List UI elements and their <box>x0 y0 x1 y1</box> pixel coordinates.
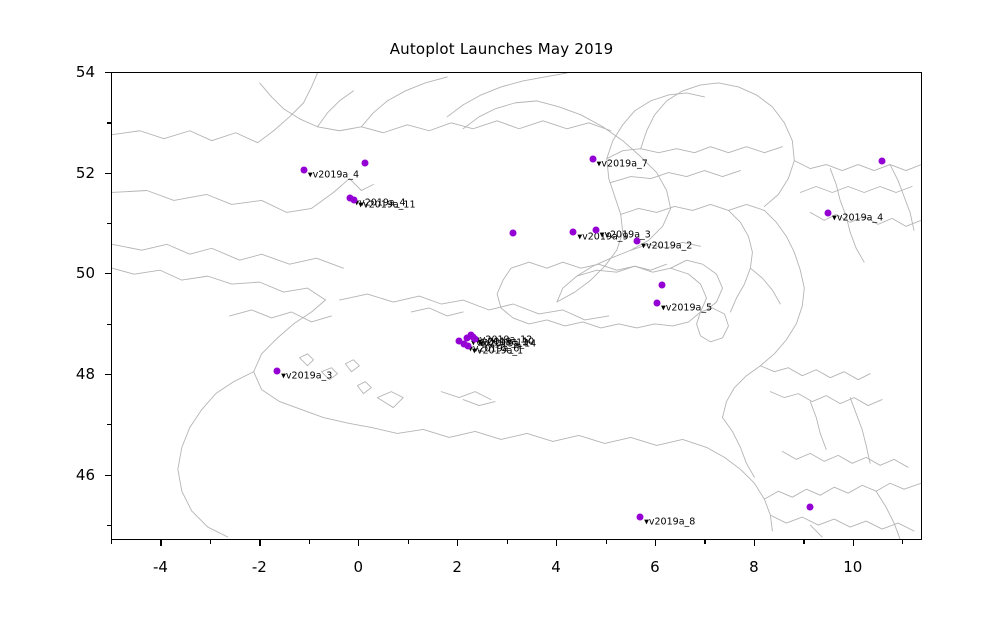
x-axis-minor-tick <box>803 540 804 544</box>
y-axis-tick-label: 50 <box>0 264 95 282</box>
data-point[interactable] <box>658 282 665 289</box>
x-axis-tick <box>457 540 458 546</box>
x-axis-minor-tick <box>704 540 705 544</box>
data-point[interactable] <box>807 503 814 510</box>
data-point-label: ▾v2019a_7 <box>597 158 648 169</box>
x-axis-tick <box>754 540 755 546</box>
data-point-label: ▾v2019a_1 <box>472 345 523 356</box>
data-point[interactable] <box>570 229 577 236</box>
data-point-label: ▾v2019a_4 <box>308 169 359 180</box>
x-axis-tick <box>358 540 359 546</box>
figure-canvas: Autoplot Launches May 2019 <box>0 0 1003 633</box>
x-axis-tick-label: 2 <box>452 558 462 576</box>
x-axis-minor-tick <box>309 540 310 544</box>
x-axis-minor-tick <box>111 540 112 544</box>
x-axis-tick-label: 8 <box>749 558 759 576</box>
y-axis-tick-label: 52 <box>0 164 95 182</box>
data-point[interactable] <box>634 238 641 245</box>
data-point[interactable] <box>879 157 886 164</box>
data-point-label: ▾v2019a_5 <box>661 303 712 314</box>
y-axis-tick <box>105 475 111 476</box>
data-point[interactable] <box>465 342 472 349</box>
y-axis-minor-tick <box>107 324 111 325</box>
data-point[interactable] <box>509 230 516 237</box>
x-axis-tick <box>556 540 557 546</box>
data-point-label: ▾v2019a_3 <box>281 370 332 381</box>
x-axis-minor-tick <box>902 540 903 544</box>
y-axis-tick-label: 54 <box>0 63 95 81</box>
x-axis-tick-label: 4 <box>551 558 561 576</box>
data-point[interactable] <box>653 300 660 307</box>
x-axis-minor-tick <box>507 540 508 544</box>
x-axis-minor-tick <box>606 540 607 544</box>
y-axis-tick <box>105 273 111 274</box>
data-point-label: ▾v2019a_4 <box>832 212 883 223</box>
data-point[interactable] <box>274 367 281 374</box>
y-axis-tick <box>105 173 111 174</box>
y-axis-minor-tick <box>107 424 111 425</box>
x-axis-tick <box>655 540 656 546</box>
y-axis-tick <box>105 72 111 73</box>
x-axis-tick-label: 10 <box>843 558 862 576</box>
y-axis-tick <box>105 374 111 375</box>
data-point[interactable] <box>471 335 478 342</box>
y-axis-minor-tick <box>107 122 111 123</box>
y-axis-tick-label: 48 <box>0 365 95 383</box>
data-point[interactable] <box>300 166 307 173</box>
x-axis-tick <box>160 540 161 546</box>
data-point-label: ▾v2019a_2 <box>641 241 692 252</box>
x-axis-tick <box>259 540 260 546</box>
x-axis-tick-label: 0 <box>353 558 363 576</box>
y-axis-minor-tick <box>107 525 111 526</box>
data-point[interactable] <box>351 196 358 203</box>
data-point[interactable] <box>592 227 599 234</box>
x-axis-tick <box>853 540 854 546</box>
y-axis-tick-label: 46 <box>0 466 95 484</box>
x-axis-minor-tick <box>210 540 211 544</box>
chart-title: Autoplot Launches May 2019 <box>0 40 1003 58</box>
data-point[interactable] <box>589 155 596 162</box>
data-point-label: ▾v2019a_8 <box>644 516 695 527</box>
y-axis-minor-tick <box>107 223 111 224</box>
data-point-label: ▾v2019a_3 <box>600 230 651 241</box>
coastline-map <box>112 73 921 539</box>
x-axis-minor-tick <box>408 540 409 544</box>
data-point-label: ▾v2019a_11 <box>358 199 415 210</box>
data-point[interactable] <box>362 159 369 166</box>
x-axis-tick-label: -2 <box>252 558 267 576</box>
data-point[interactable] <box>637 513 644 520</box>
x-axis-tick-label: -4 <box>153 558 168 576</box>
data-point[interactable] <box>825 209 832 216</box>
plot-axes-area[interactable]: ▾v2019a_4▾v2019a_4▾v2019a_11▾v2019a_3▾v2… <box>111 72 922 540</box>
x-axis-tick-label: 6 <box>650 558 660 576</box>
